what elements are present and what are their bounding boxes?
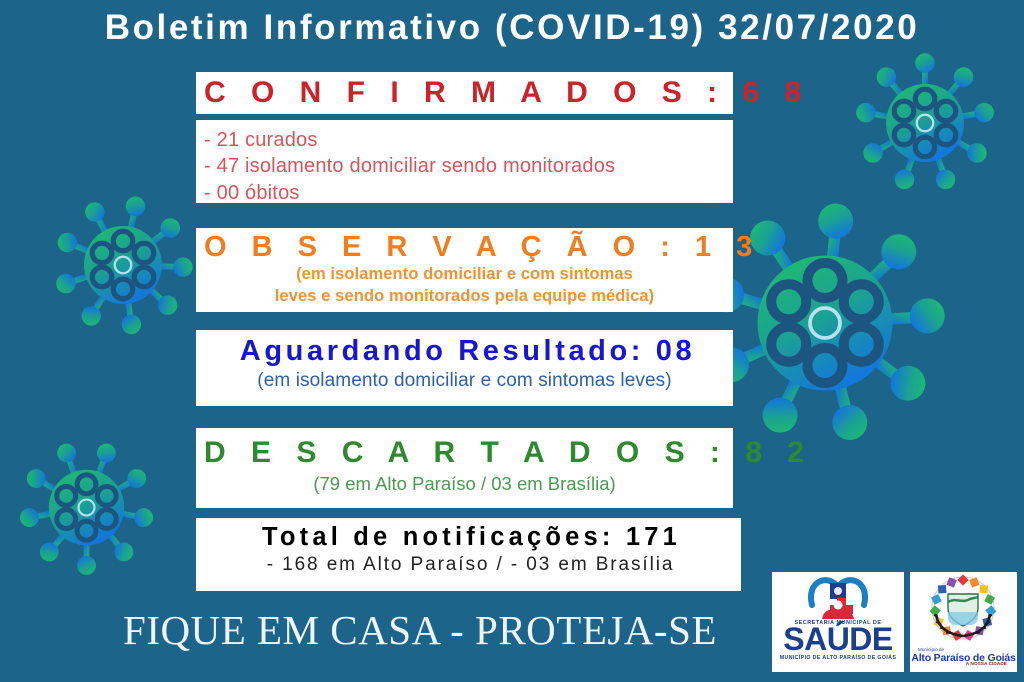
card-aguardando-resultado: Aguardando Resultado: 08 (em isolamento … — [196, 330, 733, 406]
observacao-headline: O B S E R V A Ç Ã O : 1 3 — [196, 232, 733, 263]
confirmados-detail-item: - 21 curados — [204, 127, 733, 153]
coronavirus-icon — [850, 48, 1000, 198]
total-subtitle: - 168 em Alto Paraíso / - 03 em Brasília — [196, 555, 741, 575]
saude-logo-bottom-text: MUNICÍPIO DE ALTO PARAÍSO DE GOIÁS — [772, 655, 904, 661]
card-confirmados-details: - 21 curados - 47 isolamento domiciliar … — [196, 120, 733, 203]
logo-brasao-municipio: Município de Alto Paraíso de Goiás A NOS… — [910, 572, 1017, 672]
descartados-subtitle: (79 em Alto Paraíso / 03 em Brasília) — [196, 474, 733, 494]
observacao-subtitle-line-2: leves e sendo monitorados pela equipe mé… — [196, 286, 733, 307]
health-heart-cross-icon — [772, 575, 904, 619]
poster-canvas: Boletim Informativo (COVID-19) 32/07/202… — [0, 0, 1024, 682]
confirmados-detail-item: - 00 óbitos — [204, 180, 733, 206]
total-headline: Total de notificações: 171 — [196, 524, 741, 551]
card-observacao: O B S E R V A Ç Ã O : 1 3 (em isolamento… — [196, 228, 733, 312]
card-total-notificacoes: Total de notificações: 171 - 168 em Alto… — [196, 518, 741, 591]
slogan-text: FIQUE EM CASA - PROTEJA-SE — [110, 606, 730, 654]
descartados-headline: D E S C A R T A D O S : 8 2 — [196, 437, 733, 469]
aguardando-headline: Aguardando Resultado: 08 — [196, 336, 733, 367]
coronavirus-icon — [48, 190, 198, 340]
logo-secretaria-saude: SECRETARIA MUNICIPAL DE SAÚDE MUNICÍPIO … — [772, 572, 904, 672]
confirmados-detail-item: - 47 isolamento domiciliar sendo monitor… — [204, 153, 733, 179]
card-confirmados: C O N F I R M A D O S : 6 8 — [196, 72, 733, 114]
card-descartados: D E S C A R T A D O S : 8 2 (79 em Alto … — [196, 428, 733, 508]
coronavirus-icon — [14, 435, 159, 580]
saude-logo-word: SAÚDE — [772, 625, 904, 654]
confirmados-headline: C O N F I R M A D O S : 6 8 — [196, 72, 733, 109]
aguardando-subtitle: (em isolamento domiciliar e com sintomas… — [196, 371, 733, 391]
page-title: Boletim Informativo (COVID-19) 32/07/202… — [0, 8, 1024, 48]
municipal-seal-icon — [910, 572, 1017, 648]
brasao-subtext: A NOSSA CIDADE — [910, 663, 1017, 668]
observacao-subtitle-line-1: (em isolamento domiciliar e com sintomas — [196, 264, 733, 285]
